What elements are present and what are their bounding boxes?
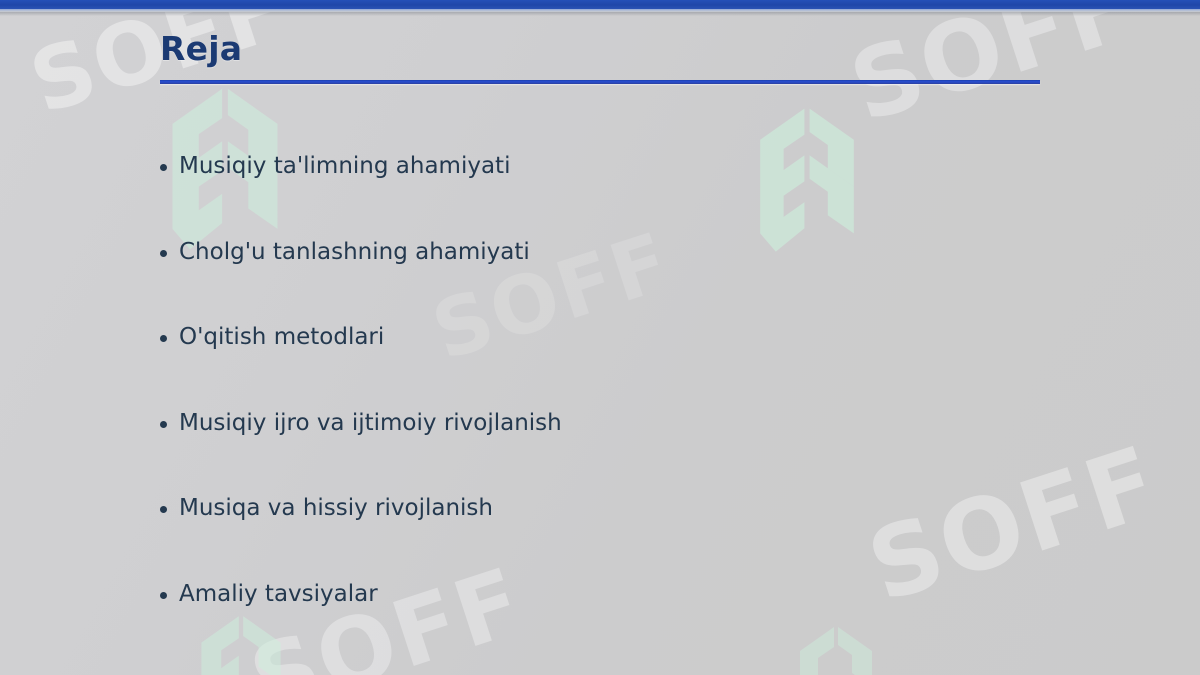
list-item-label: Cholg'u tanlashning ahamiyati [179,236,530,268]
top-accent-bar-highlight [0,9,1200,12]
list-item-label: Musiqiy ijro va ijtimoiy rivojlanish [179,407,562,439]
list-item-clipped [160,663,1120,675]
list-item-label: O'qitish metodlari [179,321,384,353]
presentation-slide: SOFF SOFF SOFF SOFF SOFF [0,0,1200,675]
list-item-label: Musiqiy ta'limning ahamiyati [179,150,510,182]
list-item: O'qitish metodlari [160,321,1120,407]
list-item: Musiqiy ijro va ijtimoiy rivojlanish [160,407,1120,493]
top-accent-bar-shadow [0,12,1200,16]
bullet-dot-icon [160,421,167,428]
page-title: Reja [160,30,1040,68]
list-item: Musiqa va hissiy rivojlanish [160,492,1120,578]
title-block: Reja [160,30,1040,84]
list-item: Amaliy tavsiyalar [160,578,1120,664]
bullet-dot-icon [160,335,167,342]
list-item: Musiqiy ta'limning ahamiyati [160,150,1120,236]
bullet-dot-icon [160,592,167,599]
list-item-label: Musiqa va hissiy rivojlanish [179,492,493,524]
agenda-bullet-list: Musiqiy ta'limning ahamiyati Cholg'u tan… [160,150,1120,675]
bullet-dot-icon [160,250,167,257]
bullet-dot-icon [160,164,167,171]
list-item-label: Amaliy tavsiyalar [179,578,378,610]
bullet-dot-icon [160,506,167,513]
title-underline-rule [160,80,1040,84]
top-accent-bar [0,0,1200,9]
list-item: Cholg'u tanlashning ahamiyati [160,236,1120,322]
